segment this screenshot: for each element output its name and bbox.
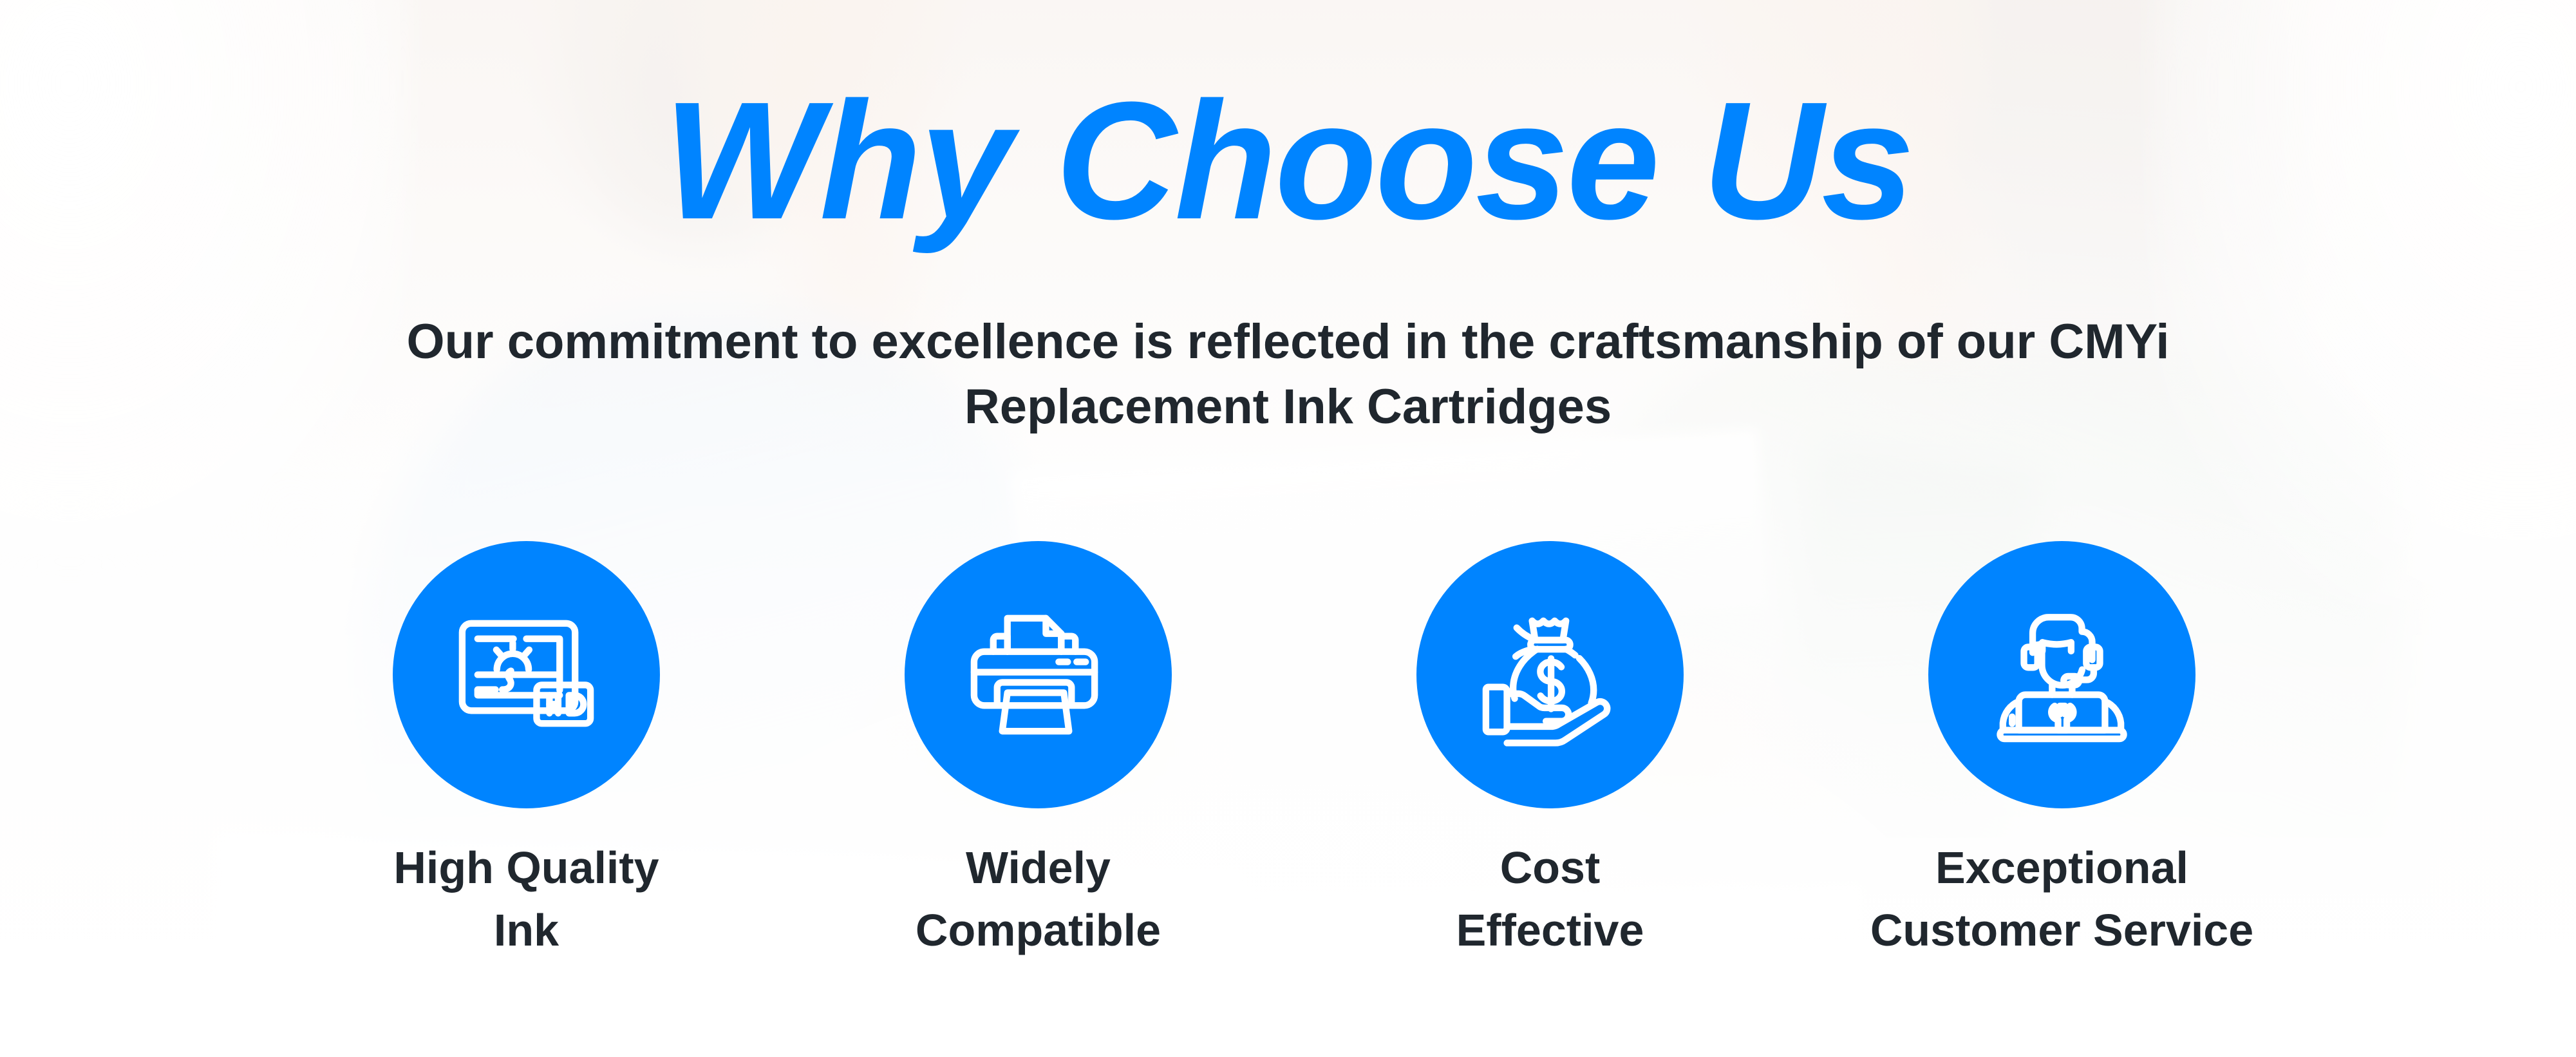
why-choose-us-banner: Why Choose Us Our commitment to excellen… — [0, 0, 2576, 1057]
feature-label: Exceptional Customer Service — [1870, 837, 2253, 961]
hd-image-icon — [444, 593, 608, 757]
banner-content: Why Choose Us Our commitment to excellen… — [0, 0, 2576, 1057]
feature-label: Widely Compatible — [916, 837, 1161, 961]
feature-list: High Quality Ink — [270, 541, 2318, 961]
feature-icon-badge — [393, 541, 660, 808]
printer-icon — [956, 593, 1120, 757]
feature-label: Cost Effective — [1456, 837, 1644, 961]
page-title: Why Choose Us — [0, 77, 2576, 245]
feature-item-cost-effective: Cost Effective — [1294, 541, 1806, 961]
feature-item-widely-compatible: Widely Compatible — [782, 541, 1294, 961]
support-agent-headset-icon — [1980, 593, 2144, 757]
feature-icon-badge — [905, 541, 1172, 808]
page-subtitle: Our commitment to excellence is reflecte… — [355, 309, 2222, 439]
feature-label: High Quality Ink — [393, 837, 659, 961]
money-bag-in-hand-icon — [1468, 593, 1632, 757]
feature-item-high-quality-ink: High Quality Ink — [270, 541, 782, 961]
feature-item-customer-service: Exceptional Customer Service — [1806, 541, 2318, 961]
feature-icon-badge — [1416, 541, 1684, 808]
feature-icon-badge — [1928, 541, 2195, 808]
